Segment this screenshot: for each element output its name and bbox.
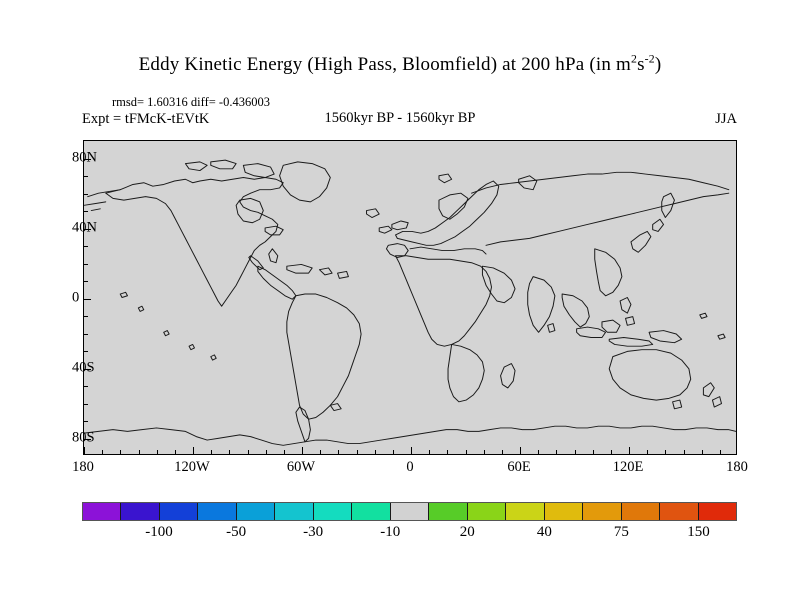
colorbar-swatch — [198, 503, 236, 520]
colorbar-swatch — [622, 503, 660, 520]
x-axis-label: 120E — [613, 459, 644, 476]
x-axis-minor-tick — [175, 450, 176, 454]
x-axis-label: 180 — [726, 459, 748, 476]
colorbar-tick-label: -30 — [303, 524, 323, 541]
x-axis-minor-tick — [211, 450, 212, 454]
map-plot-area — [83, 140, 737, 455]
x-axis-minor-tick — [429, 450, 430, 454]
x-axis-major-tick — [411, 447, 412, 454]
x-axis-minor-tick — [157, 450, 158, 454]
colorbar-tick-label: 150 — [687, 524, 710, 541]
x-axis-label: 60W — [287, 459, 315, 476]
colorbar-swatch — [314, 503, 352, 520]
y-axis-minor-tick — [84, 404, 88, 405]
colorbar-swatch — [160, 503, 198, 520]
x-axis-major-tick — [84, 447, 85, 454]
x-axis-minor-tick — [538, 450, 539, 454]
colorbar-tick-label: 20 — [460, 524, 475, 541]
x-axis-minor-tick — [102, 450, 103, 454]
x-axis-minor-tick — [248, 450, 249, 454]
colorbar-swatch — [391, 503, 429, 520]
season-label: JJA — [715, 111, 737, 128]
colorbar-swatch — [352, 503, 390, 520]
y-axis-minor-tick — [84, 211, 88, 212]
y-axis-minor-tick — [84, 334, 88, 335]
colorbar-swatch — [660, 503, 698, 520]
x-axis-major-tick — [520, 447, 521, 454]
colorbar-swatch — [583, 503, 621, 520]
x-axis-minor-tick — [139, 450, 140, 454]
x-axis-minor-tick — [120, 450, 121, 454]
y-axis-minor-tick — [84, 281, 88, 282]
colorbar-swatch — [275, 503, 313, 520]
x-axis-minor-tick — [357, 450, 358, 454]
colorbar-swatch — [429, 503, 467, 520]
x-axis-minor-tick — [684, 450, 685, 454]
y-axis-minor-tick — [84, 194, 88, 195]
x-axis-minor-tick — [647, 450, 648, 454]
y-axis-minor-tick — [84, 264, 88, 265]
colorbar-tick-label: 75 — [614, 524, 629, 541]
colorbar[interactable] — [82, 502, 737, 521]
colorbar-tick-label: -50 — [226, 524, 246, 541]
colorbar-swatch — [83, 503, 121, 520]
colorbar-swatch — [506, 503, 544, 520]
y-axis-minor-tick — [84, 386, 88, 387]
x-axis-label: 60E — [507, 459, 530, 476]
colorbar-labels: -100-50-30-10204075150 — [82, 524, 737, 544]
x-axis-minor-tick — [575, 450, 576, 454]
x-axis-minor-tick — [665, 450, 666, 454]
colorbar-swatch — [545, 503, 583, 520]
x-axis-minor-tick — [266, 450, 267, 454]
x-axis-minor-tick — [611, 450, 612, 454]
y-axis-minor-tick — [84, 246, 88, 247]
y-axis-minor-tick — [84, 176, 88, 177]
x-axis-minor-tick — [502, 450, 503, 454]
title-text-mid: s — [637, 54, 645, 75]
x-axis-minor-tick — [484, 450, 485, 454]
x-axis-minor-tick — [375, 450, 376, 454]
x-axis-major-tick — [302, 447, 303, 454]
x-axis-label: 180 — [72, 459, 94, 476]
title-text-prefix: Eddy Kinetic Energy (High Pass, Bloomfie… — [139, 54, 631, 75]
x-axis-minor-tick — [284, 450, 285, 454]
colorbar-swatch — [468, 503, 506, 520]
x-axis-minor-tick — [338, 450, 339, 454]
x-axis-minor-tick — [447, 450, 448, 454]
x-axis-minor-tick — [720, 450, 721, 454]
x-axis-minor-tick — [702, 450, 703, 454]
x-axis-minor-tick — [466, 450, 467, 454]
y-axis-minor-tick — [84, 316, 88, 317]
time-period-label: 1560kyr BP - 1560kyr BP — [0, 110, 800, 127]
x-axis-minor-tick — [593, 450, 594, 454]
colorbar-swatch — [699, 503, 736, 520]
x-axis-minor-tick — [393, 450, 394, 454]
x-axis-minor-tick — [556, 450, 557, 454]
colorbar-swatch — [121, 503, 159, 520]
rmsd-statistics-label: rmsd= 1.60316 diff= -0.436003 — [112, 95, 270, 110]
x-axis-minor-tick — [320, 450, 321, 454]
colorbar-tick-label: -10 — [380, 524, 400, 541]
title-text-suffix: ) — [655, 54, 662, 75]
coastline-map — [84, 141, 736, 454]
x-axis-label: 0 — [406, 459, 413, 476]
colorbar-swatch — [237, 503, 275, 520]
y-axis-minor-tick — [84, 421, 88, 422]
x-axis-major-tick — [193, 447, 194, 454]
x-axis-minor-tick — [229, 450, 230, 454]
y-axis-major-tick — [84, 299, 91, 300]
y-axis-minor-tick — [84, 351, 88, 352]
colorbar-tick-label: -100 — [145, 524, 173, 541]
page-title: Eddy Kinetic Energy (High Pass, Bloomfie… — [0, 54, 800, 76]
colorbar-tick-label: 40 — [537, 524, 552, 541]
x-axis-major-tick — [629, 447, 630, 454]
title-superscript-2: -2 — [645, 53, 655, 66]
x-axis-label: 120W — [174, 459, 209, 476]
